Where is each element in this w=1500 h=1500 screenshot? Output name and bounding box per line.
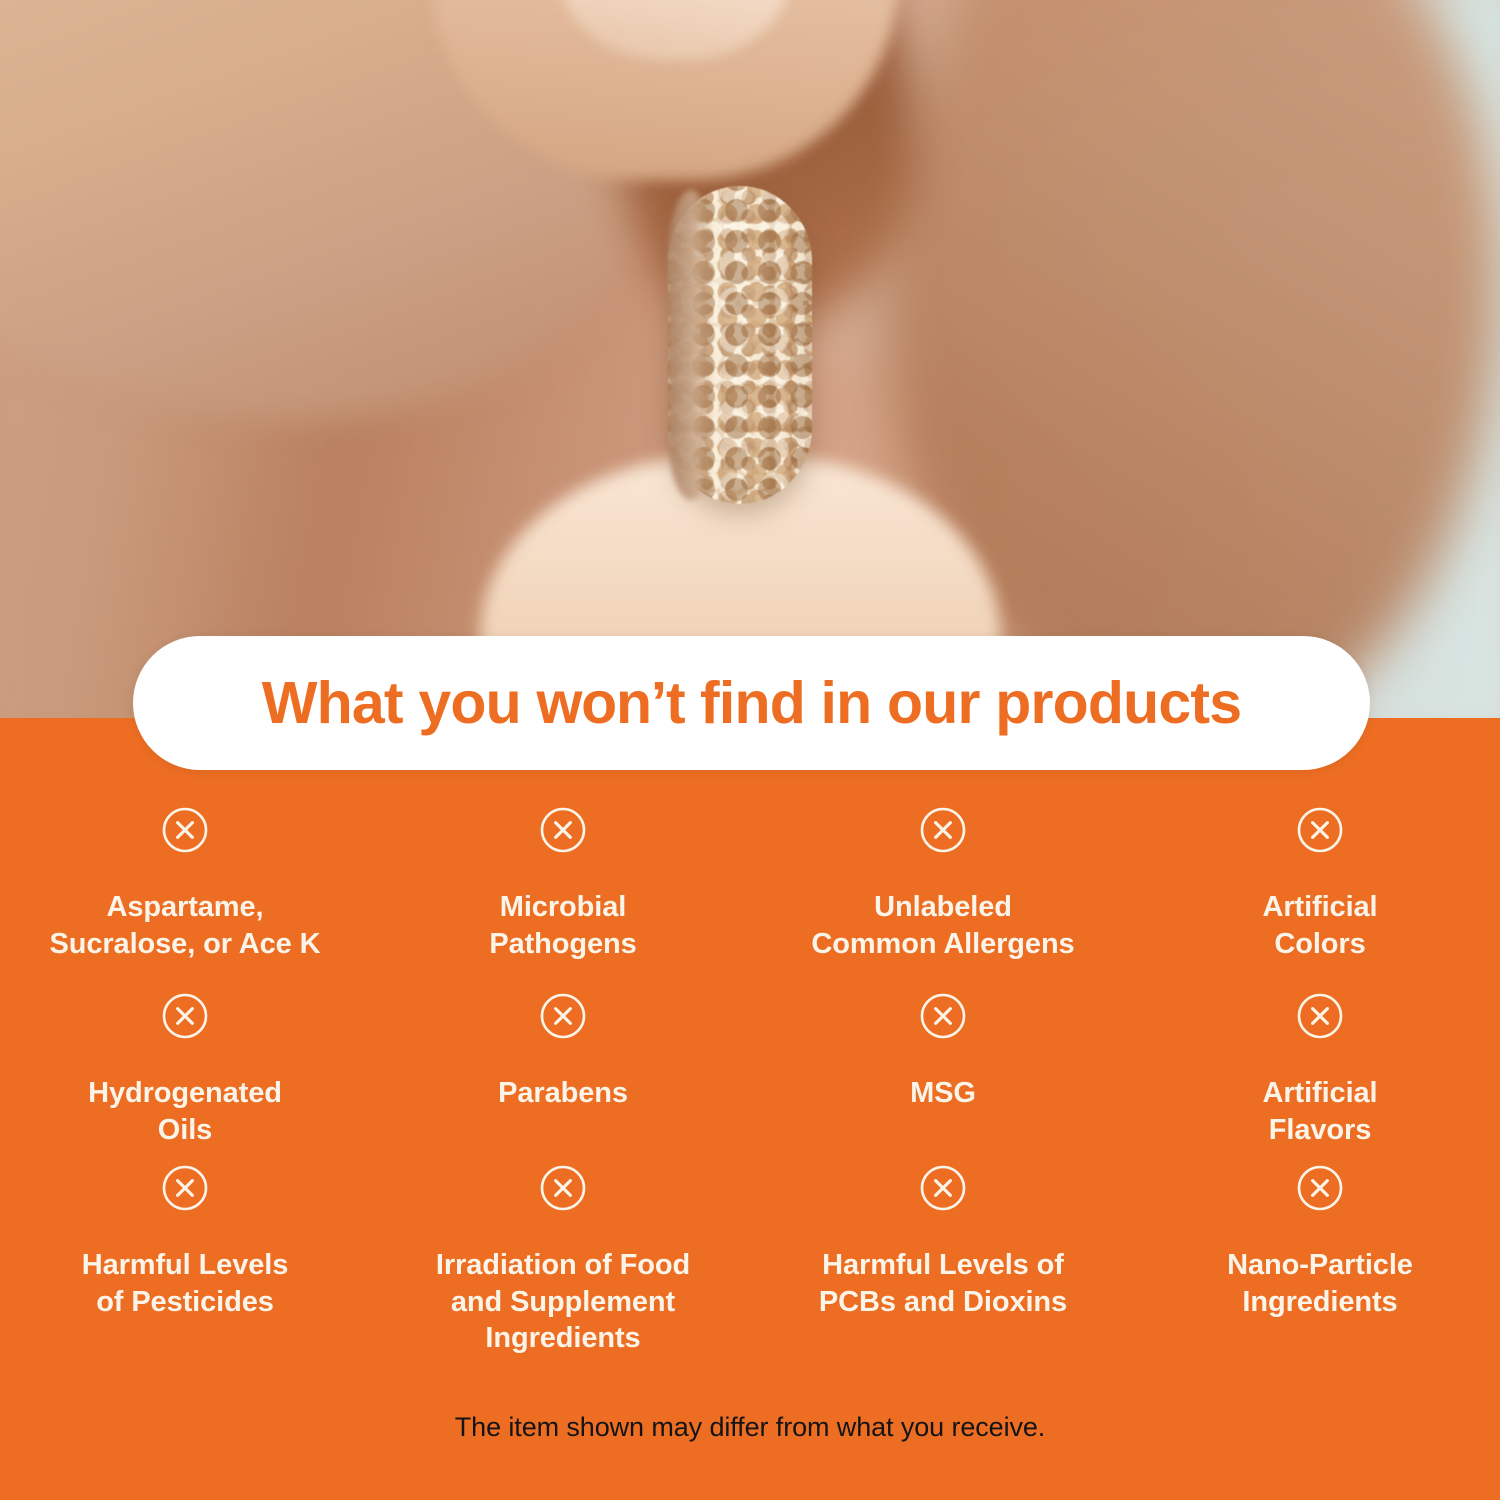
exclusion-item: ArtificialColors [1145,806,1495,962]
exclusion-item: UnlabeledCommon Allergens [768,806,1118,962]
circle-x-icon [768,992,1118,1045]
headline-part-2: find in our products [684,670,1241,736]
exclusion-item: Irradiation of Foodand SupplementIngredi… [388,1164,738,1357]
exclusion-item: MicrobialPathogens [388,806,738,962]
circle-x-icon [768,1164,1118,1217]
exclusion-label: Parabens [388,1075,738,1112]
product-photo [0,0,1500,722]
exclusion-label: Harmful Levels ofPCBs and Dioxins [768,1247,1118,1320]
exclusion-label: Nano-ParticleIngredients [1145,1247,1495,1320]
exclusion-label: Irradiation of Foodand SupplementIngredi… [388,1247,738,1357]
circle-x-icon [1145,806,1495,859]
headline-part-1: What you [262,670,537,736]
disclaimer-text: The item shown may differ from what you … [0,1412,1500,1443]
exclusions-row: Harmful Levelsof PesticidesIrradiation o… [0,1164,1500,1364]
headline-emphasis: won’t [536,670,684,736]
exclusion-item: HydrogenatedOils [10,992,360,1148]
exclusion-label: MicrobialPathogens [388,889,738,962]
circle-x-icon [10,992,360,1045]
exclusion-item: Nano-ParticleIngredients [1145,1164,1495,1320]
exclusion-label: ArtificialFlavors [1145,1075,1495,1148]
exclusion-label: UnlabeledCommon Allergens [768,889,1118,962]
infographic-root: What you won’t find in our products Aspa… [0,0,1500,1500]
circle-x-icon [388,992,738,1045]
exclusion-label: Harmful Levelsof Pesticides [10,1247,360,1320]
circle-x-icon [768,806,1118,859]
exclusion-label: HydrogenatedOils [10,1075,360,1148]
circle-x-icon [1145,992,1495,1045]
exclusion-item: MSG [768,992,1118,1112]
circle-x-icon [10,806,360,859]
exclusion-item: Parabens [388,992,738,1112]
exclusion-label: MSG [768,1075,1118,1112]
exclusion-item: Aspartame,Sucralose, or Ace K [10,806,360,962]
circle-x-icon [10,1164,360,1217]
circle-x-icon [1145,1164,1495,1217]
exclusion-item: ArtificialFlavors [1145,992,1495,1148]
exclusions-row: HydrogenatedOilsParabensMSGArtificialFla… [0,992,1500,1178]
tablet-edge-highlight [668,190,714,500]
circle-x-icon [388,1164,738,1217]
exclusion-item: Harmful Levelsof Pesticides [10,1164,360,1320]
page-title: What you won’t find in our products [262,674,1241,733]
exclusion-item: Harmful Levels ofPCBs and Dioxins [768,1164,1118,1320]
headline-card: What you won’t find in our products [133,636,1370,770]
exclusions-row: Aspartame,Sucralose, or Ace KMicrobialPa… [0,806,1500,992]
exclusion-label: Aspartame,Sucralose, or Ace K [10,889,360,962]
exclusion-label: ArtificialColors [1145,889,1495,962]
circle-x-icon [388,806,738,859]
